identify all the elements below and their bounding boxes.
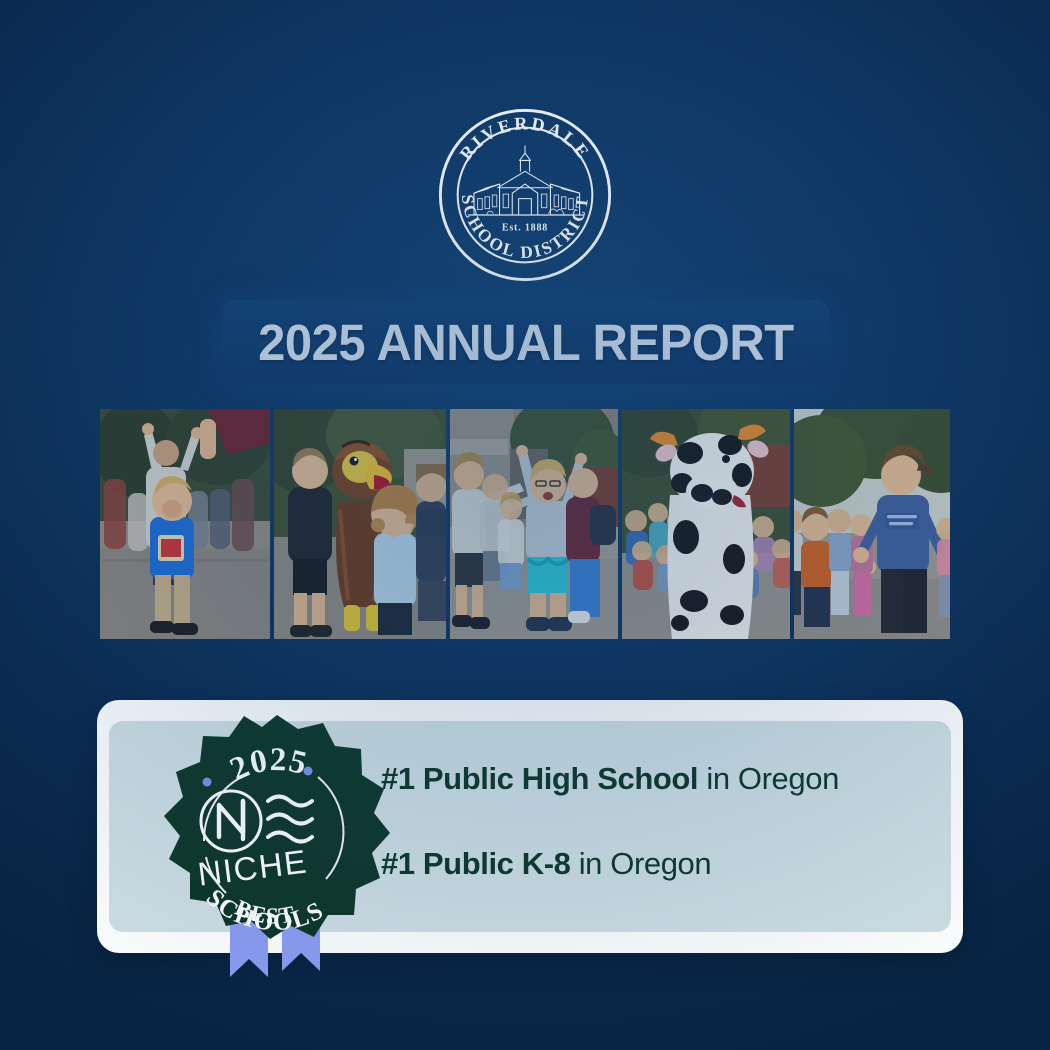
photo-eagle-mascot — [274, 409, 446, 639]
logo-container: RIVERDALE SCHOOL DISTRICT — [0, 104, 1050, 286]
niche-best-schools-badge-icon: 2025 NICHE — [142, 709, 412, 977]
award-line-k8: #1 Public K-8 in Oregon — [381, 848, 941, 879]
riverdale-school-district-seal-icon: RIVERDALE SCHOOL DISTRICT — [434, 104, 616, 286]
schoolhouse-illustration — [469, 146, 584, 215]
annual-report-poster: RIVERDALE SCHOOL DISTRICT — [0, 0, 1050, 1050]
page-title: 2025 ANNUAL REPORT — [258, 313, 794, 372]
badge-dot-left — [203, 778, 212, 787]
award-text-block: #1 Public High School in Oregon #1 Publi… — [381, 763, 941, 879]
award-line-2-rest: in Oregon — [570, 846, 711, 881]
svg-text:RIVERDALE: RIVERDALE — [456, 113, 595, 163]
award-line-1-bold: #1 Public High School — [381, 761, 698, 796]
award-line-1-rest: in Oregon — [698, 761, 839, 796]
award-line-2-bold: #1 Public K-8 — [381, 846, 570, 881]
seal-established-text: Est. 1888 — [502, 222, 548, 233]
photo-cheering-students — [450, 409, 618, 639]
award-card: 2025 NICHE — [97, 700, 963, 953]
award-card-panel: 2025 NICHE — [109, 721, 951, 932]
photo-students-outdoors — [100, 409, 270, 639]
photo-strip — [100, 409, 950, 639]
award-line-high-school: #1 Public High School in Oregon — [381, 763, 941, 794]
photo-cow-mascot — [622, 409, 790, 639]
seal-arc-top-text: RIVERDALE — [456, 113, 595, 163]
photo-teacher-high-five — [794, 409, 950, 639]
report-title-plate: 2025 ANNUAL REPORT — [222, 300, 830, 384]
niche-badge-container: 2025 NICHE — [142, 709, 412, 977]
